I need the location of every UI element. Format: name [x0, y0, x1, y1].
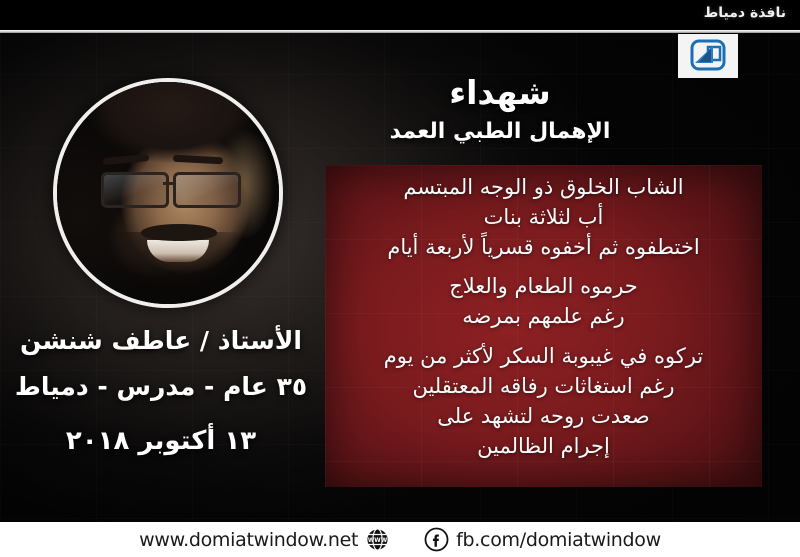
victim-portrait	[53, 78, 283, 308]
victim-date: ١٣ أكتوبر ٢٠١٨	[10, 426, 312, 457]
facebook-icon	[424, 527, 449, 552]
message-line: أب لثلاثة بنات	[341, 203, 746, 233]
portrait-glasses-bridge	[163, 182, 175, 185]
footer-bar: www.domiatwindow.net WWW fb.com/domiatwi…	[0, 522, 800, 557]
message-panel: الشاب الخلوق ذو الوجه المبتسم أب لثلاثة …	[325, 165, 762, 487]
message-group: حرموه الطعام والعلاج رغم علمهم بمرضه	[341, 272, 746, 332]
sail-boat-window-logo-icon	[688, 39, 728, 73]
message-line: الشاب الخلوق ذو الوجه المبتسم	[341, 173, 746, 203]
poster-canvas: نافذة دمياط شهداء الإهمال الطبي العمد	[0, 0, 800, 557]
message-line: اختطفوه ثم أخفوه قسرياً لأربعة أيام	[341, 233, 746, 263]
portrait-photo-image	[57, 82, 279, 304]
victim-info: الأستاذ / عاطف شنشن ٣٥ عام - مدرس - دميا…	[10, 326, 312, 457]
portrait-moustache	[141, 224, 217, 241]
site-name-label: نافذة دمياط	[704, 5, 786, 21]
message-line: تركوه في غيبوبة السكر لأكثر من يوم	[341, 342, 746, 372]
message-line: حرموه الطعام والعلاج	[341, 272, 746, 302]
facebook-link[interactable]: fb.com/domiatwindow	[424, 527, 661, 552]
victim-details: ٣٥ عام - مدرس - دمياط	[10, 372, 312, 402]
message-group: الشاب الخلوق ذو الوجه المبتسم أب لثلاثة …	[341, 173, 746, 262]
portrait-lens-right	[173, 172, 241, 208]
header-strip: نافذة دمياط	[0, 0, 800, 30]
brand-logo	[678, 34, 738, 78]
portrait-glasses	[77, 170, 255, 204]
message-line: رغم علمهم بمرضه	[341, 302, 746, 332]
header-divider-line	[0, 30, 800, 33]
message-panel-content: الشاب الخلوق ذو الوجه المبتسم أب لثلاثة …	[325, 165, 762, 461]
portrait-lens-left	[101, 172, 169, 208]
message-line: إجرام الظالمين	[341, 432, 746, 462]
website-link[interactable]: www.domiatwindow.net WWW	[139, 527, 390, 552]
message-group: تركوه في غيبوبة السكر لأكثر من يوم رغم ا…	[341, 342, 746, 461]
message-line: صعدت روحه لتشهد على	[341, 402, 746, 432]
victim-name: الأستاذ / عاطف شنشن	[10, 326, 312, 356]
page-subtitle: الإهمال الطبي العمد	[330, 120, 670, 144]
facebook-label: fb.com/domiatwindow	[456, 529, 661, 551]
portrait-eyebrow-left	[103, 154, 149, 165]
website-label: www.domiatwindow.net	[139, 529, 358, 551]
portrait-eyebrow-right	[173, 155, 223, 165]
globe-www-icon: WWW	[365, 527, 390, 552]
svg-text:WWW: WWW	[368, 538, 388, 544]
message-line: رغم استغاثات رفاقه المعتقلين	[341, 372, 746, 402]
page-title: شهداء	[330, 76, 670, 111]
